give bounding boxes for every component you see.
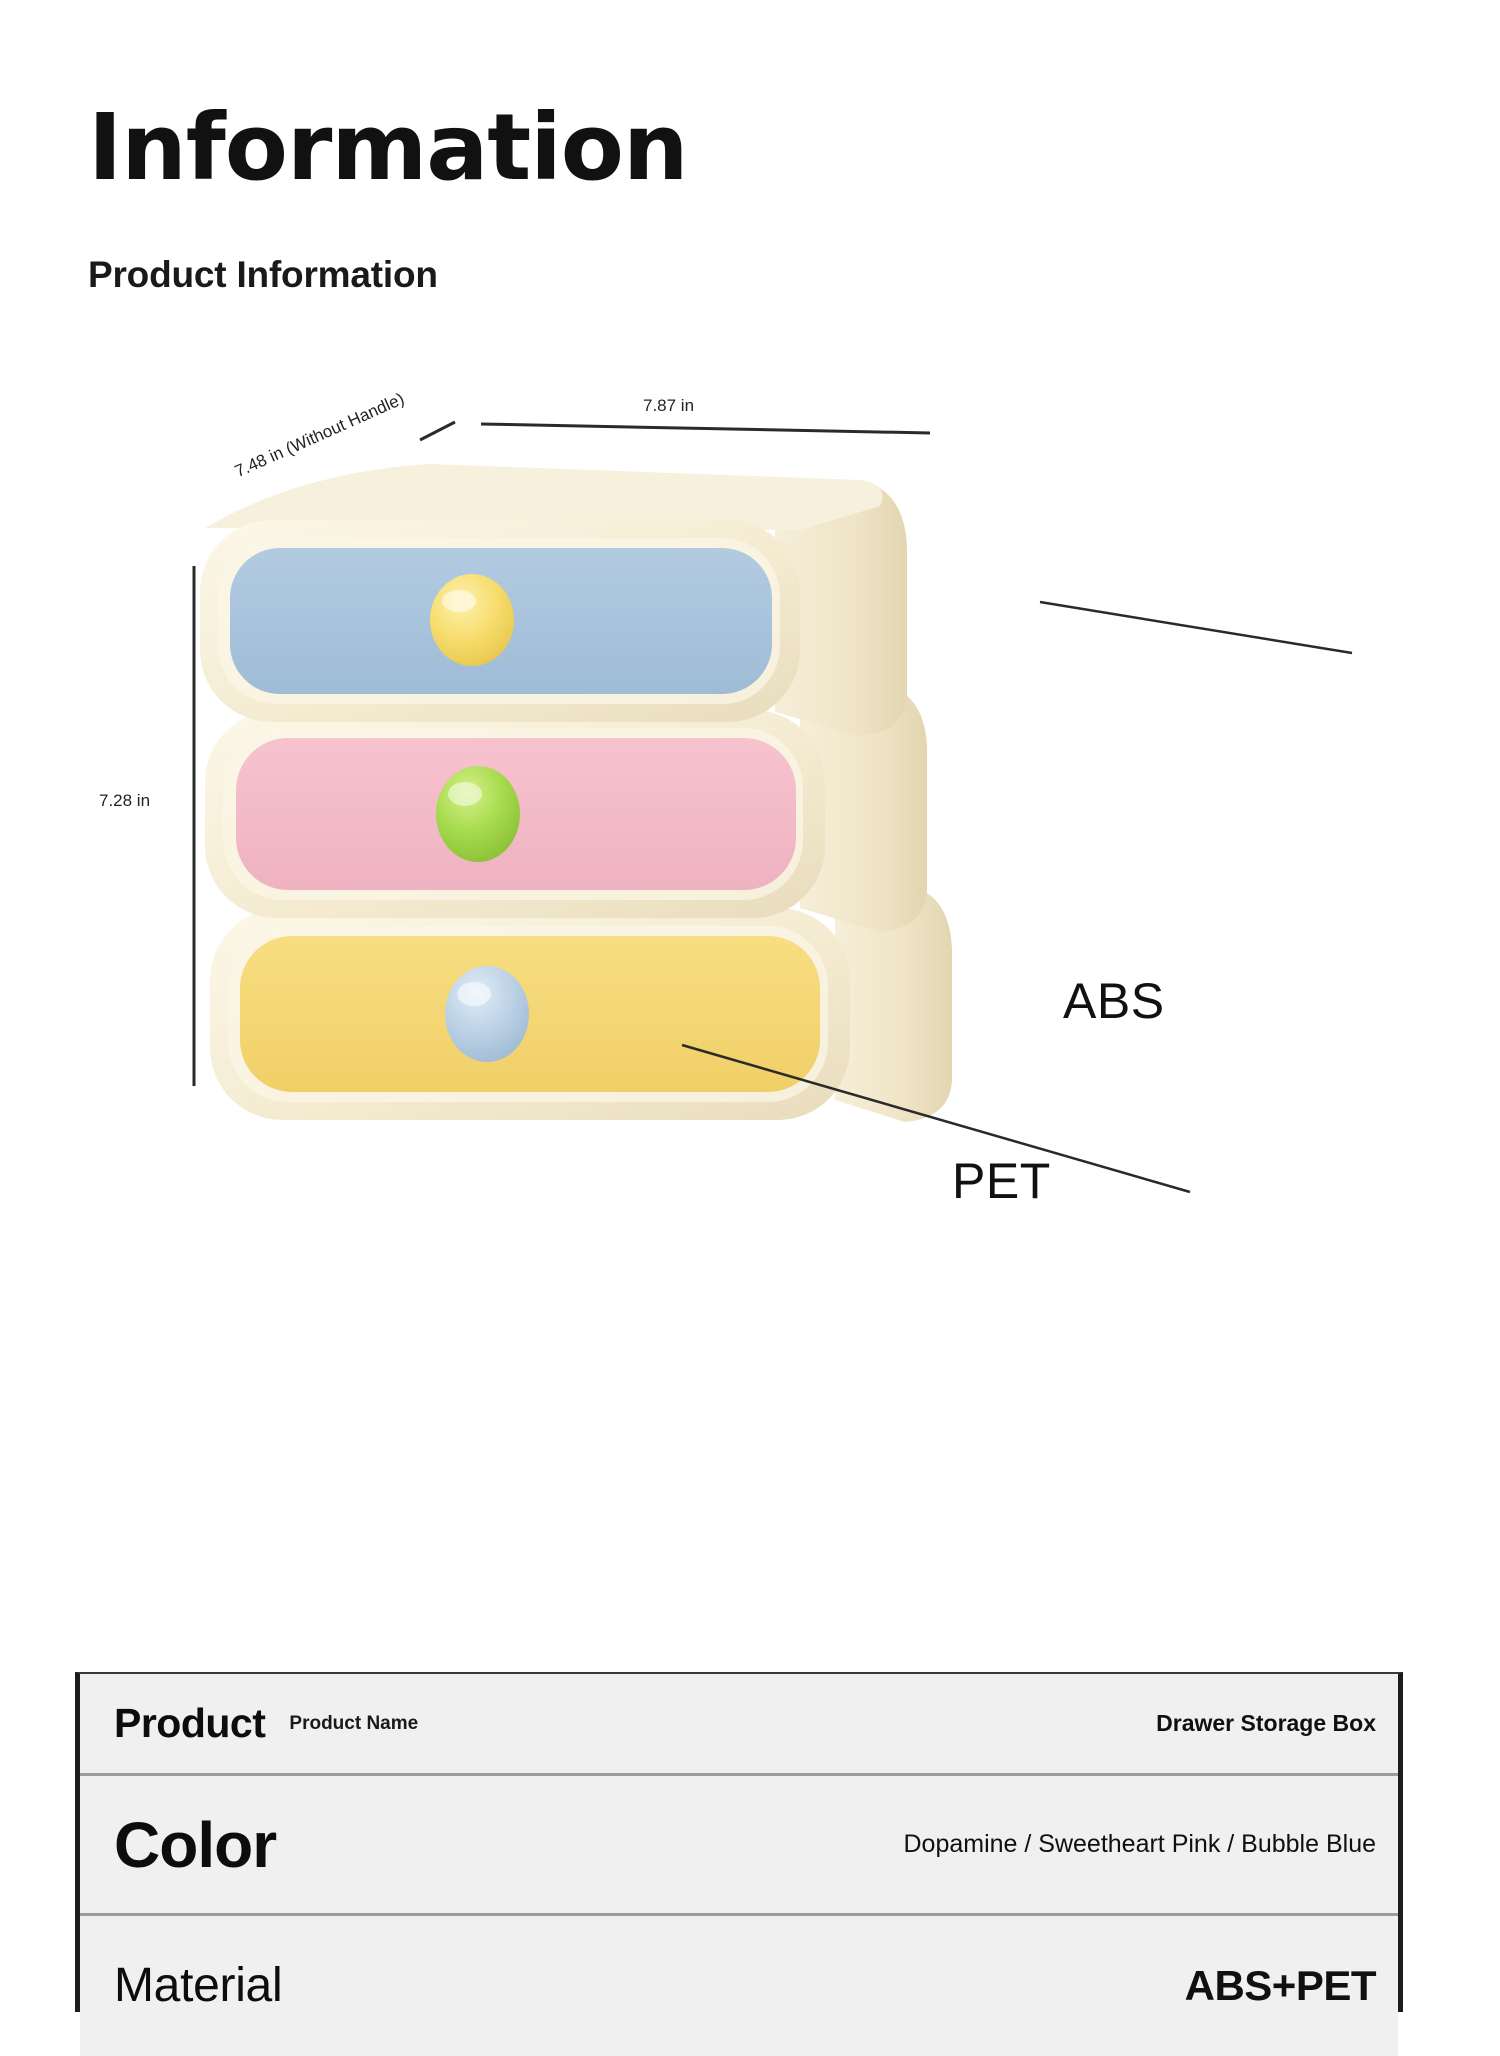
spec-value-material: ABS+PET — [1185, 1962, 1376, 2010]
abs-material-callout: ABS — [1063, 972, 1165, 1030]
abs-leader-line — [1040, 602, 1352, 653]
spec-key-product: Product — [114, 1703, 265, 1744]
spec-key-color: Color — [114, 1813, 276, 1877]
section-title: Product Information — [88, 254, 438, 296]
bottom-drawer-face — [240, 936, 820, 1092]
spec-sublabel-product-name: Product Name — [289, 1713, 418, 1735]
spec-row-color: Color Dopamine / Sweetheart Pink / Bubbl… — [80, 1776, 1398, 1916]
depth-dimension-line — [420, 422, 455, 440]
top-drawer-unit — [200, 464, 907, 736]
height-dimension-label: 7.28 in — [99, 791, 150, 811]
bottom-drawer-unit — [210, 885, 952, 1122]
bottom-drawer-knob — [445, 966, 529, 1062]
pet-material-callout: PET — [952, 1152, 1051, 1210]
product-spec-table: Product Product Name Drawer Storage Box … — [75, 1672, 1403, 2012]
width-dimension-line — [481, 424, 930, 433]
width-dimension-label: 7.87 in — [643, 396, 694, 416]
spec-row-material: Material ABS+PET — [80, 1916, 1398, 2056]
top-drawer-knob — [430, 574, 514, 666]
spec-value-color: Dopamine / Sweetheart Pink / Bubble Blue — [904, 1830, 1377, 1859]
product-illustration: 7.87 in 7.28 in 7.48 in (Without Handle)… — [0, 380, 1500, 1280]
drawer-storage-box-graphic — [0, 380, 1500, 1280]
spec-value-product-name: Drawer Storage Box — [1156, 1710, 1376, 1737]
middle-drawer-knob — [436, 766, 520, 862]
page-title: Information — [88, 102, 688, 194]
spec-row-product: Product Product Name Drawer Storage Box — [80, 1674, 1398, 1776]
spec-key-material: Material — [114, 1962, 282, 2010]
